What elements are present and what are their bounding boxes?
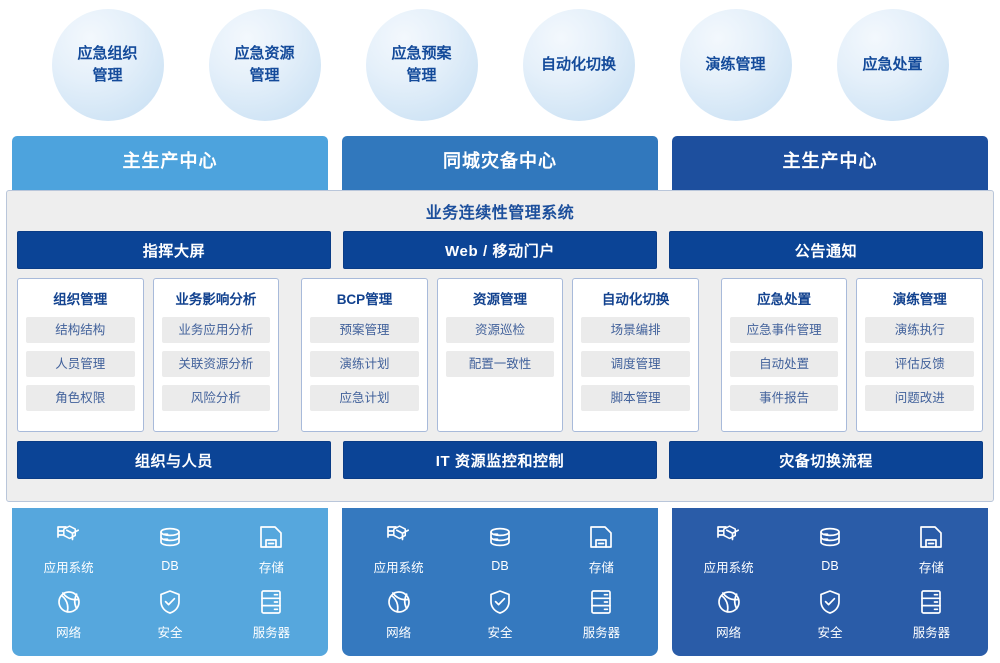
infrastructure-item[interactable]: 网络 bbox=[54, 587, 84, 641]
infrastructure-item[interactable]: 安全 bbox=[485, 587, 515, 641]
security-shield-icon bbox=[485, 587, 515, 617]
module-card-title: 组织管理 bbox=[26, 288, 135, 308]
data-center-bar[interactable]: 同城灾备中心 bbox=[342, 136, 658, 192]
infrastructure-item[interactable]: 服务器 bbox=[583, 587, 621, 641]
infrastructure-item-label: 安全 bbox=[157, 622, 182, 641]
infrastructure-item[interactable]: DB bbox=[155, 524, 185, 573]
bottom-section-bar-row: 组织与人员IT 资源监控和控制灾备切换流程 bbox=[17, 441, 983, 479]
infrastructure-item-label: 存储 bbox=[589, 557, 614, 576]
infrastructure-item-label: 安全 bbox=[487, 622, 512, 641]
module-card[interactable]: 组织管理结构结构人员管理角色权限 bbox=[17, 278, 144, 432]
module-card-item[interactable]: 演练执行 bbox=[865, 317, 974, 343]
module-card-item[interactable]: 自动处置 bbox=[730, 351, 839, 377]
infrastructure-item-label: 服务器 bbox=[913, 622, 951, 641]
module-card-item[interactable]: 人员管理 bbox=[26, 351, 135, 377]
capability-circle-label: 演练管理 bbox=[699, 54, 771, 76]
infrastructure-item-label: 网络 bbox=[56, 622, 81, 641]
capability-circle-label: 应急处置 bbox=[856, 54, 928, 76]
infrastructure-icon-panel: 应用系统 DB 存储 网络 安全 服务器 bbox=[12, 508, 328, 656]
server-icon bbox=[256, 587, 286, 617]
module-card-item[interactable]: 配置一致性 bbox=[446, 351, 555, 377]
server-icon bbox=[586, 587, 616, 617]
section-bar[interactable]: Web / 移动门户 bbox=[343, 231, 657, 269]
module-card-item[interactable]: 关联资源分析 bbox=[162, 351, 271, 377]
app-system-icon bbox=[384, 522, 414, 552]
capability-circle[interactable]: 应急处置 bbox=[837, 9, 949, 121]
module-card-title: 应急处置 bbox=[730, 288, 839, 308]
infrastructure-item-label: 安全 bbox=[817, 622, 842, 641]
module-card[interactable]: 业务影响分析业务应用分析关联资源分析风险分析 bbox=[153, 278, 280, 432]
section-bar[interactable]: 指挥大屏 bbox=[17, 231, 331, 269]
infrastructure-item-label: 存储 bbox=[919, 557, 944, 576]
module-card[interactable]: BCP管理预案管理演练计划应急计划 bbox=[301, 278, 428, 432]
section-bar[interactable]: IT 资源监控和控制 bbox=[343, 441, 657, 479]
infrastructure-item-label: 应用系统 bbox=[374, 557, 424, 576]
infrastructure-item[interactable]: 安全 bbox=[155, 587, 185, 641]
server-icon bbox=[916, 587, 946, 617]
capability-circle[interactable]: 应急预案管理 bbox=[366, 9, 478, 121]
module-card[interactable]: 演练管理演练执行评估反馈问题改进 bbox=[856, 278, 983, 432]
module-card-item[interactable]: 演练计划 bbox=[310, 351, 419, 377]
infrastructure-item[interactable]: 存储 bbox=[586, 522, 616, 576]
infrastructure-item[interactable]: DB bbox=[485, 524, 515, 573]
infrastructure-item-label: DB bbox=[821, 559, 838, 573]
capability-circle-label: 应急预案管理 bbox=[385, 43, 457, 87]
data-center-bar-row: 主生产中心同城灾备中心主生产中心 bbox=[0, 136, 1000, 192]
infrastructure-item-label: 存储 bbox=[259, 557, 284, 576]
section-bar[interactable]: 公告通知 bbox=[669, 231, 983, 269]
module-card-item[interactable]: 场景编排 bbox=[581, 317, 690, 343]
page-title: 业务连续性管理系统 bbox=[17, 199, 983, 229]
infrastructure-item[interactable]: 网络 bbox=[714, 587, 744, 641]
bcm-system-panel: 业务连续性管理系统 指挥大屏Web / 移动门户公告通知 组织管理结构结构人员管… bbox=[6, 190, 994, 502]
database-icon bbox=[815, 524, 845, 554]
network-icon bbox=[384, 587, 414, 617]
module-card-item[interactable]: 应急事件管理 bbox=[730, 317, 839, 343]
module-card-item[interactable]: 问题改进 bbox=[865, 385, 974, 411]
architecture-diagram: 应急组织管理应急资源管理应急预案管理自动化切换演练管理应急处置 主生产中心同城灾… bbox=[0, 0, 1000, 663]
capability-circle[interactable]: 演练管理 bbox=[680, 9, 792, 121]
column-group-divider bbox=[708, 278, 712, 432]
capability-circle-label: 应急资源管理 bbox=[228, 43, 300, 87]
infrastructure-item[interactable]: 安全 bbox=[815, 587, 845, 641]
top-section-bar-row: 指挥大屏Web / 移动门户公告通知 bbox=[17, 231, 983, 269]
data-center-bar[interactable]: 主生产中心 bbox=[672, 136, 988, 192]
module-card-item[interactable]: 事件报告 bbox=[730, 385, 839, 411]
infrastructure-item-label: DB bbox=[161, 559, 178, 573]
infrastructure-item-label: 服务器 bbox=[253, 622, 291, 641]
infrastructure-item-label: 网络 bbox=[386, 622, 411, 641]
section-bar[interactable]: 组织与人员 bbox=[17, 441, 331, 479]
app-system-icon bbox=[714, 522, 744, 552]
capability-circle-label: 自动化切换 bbox=[535, 54, 622, 76]
database-icon bbox=[155, 524, 185, 554]
capability-circle-row: 应急组织管理应急资源管理应急预案管理自动化切换演练管理应急处置 bbox=[0, 0, 1000, 130]
infrastructure-item-label: DB bbox=[491, 559, 508, 573]
capability-circle[interactable]: 应急资源管理 bbox=[209, 9, 321, 121]
module-card-item[interactable]: 业务应用分析 bbox=[162, 317, 271, 343]
infrastructure-icon-panel: 应用系统 DB 存储 网络 安全 服务器 bbox=[342, 508, 658, 656]
column-group-divider bbox=[288, 278, 292, 432]
infrastructure-item[interactable]: 存储 bbox=[916, 522, 946, 576]
infrastructure-item-label: 应用系统 bbox=[44, 557, 94, 576]
infrastructure-item[interactable]: DB bbox=[815, 524, 845, 573]
module-card[interactable]: 自动化切换场景编排调度管理脚本管理 bbox=[572, 278, 699, 432]
module-card-title: 业务影响分析 bbox=[162, 288, 271, 308]
security-shield-icon bbox=[155, 587, 185, 617]
infrastructure-item-label: 应用系统 bbox=[704, 557, 754, 576]
network-icon bbox=[714, 587, 744, 617]
storage-icon bbox=[586, 522, 616, 552]
capability-circle-label: 应急组织管理 bbox=[71, 43, 143, 87]
app-system-icon bbox=[54, 522, 84, 552]
storage-icon bbox=[256, 522, 286, 552]
module-card-title: 资源管理 bbox=[446, 288, 555, 308]
module-card-item[interactable]: 资源巡检 bbox=[446, 317, 555, 343]
section-bar[interactable]: 灾备切换流程 bbox=[669, 441, 983, 479]
data-center-bar[interactable]: 主生产中心 bbox=[12, 136, 328, 192]
infrastructure-item[interactable]: 存储 bbox=[256, 522, 286, 576]
module-card-title: 自动化切换 bbox=[581, 288, 690, 308]
module-card-item[interactable]: 预案管理 bbox=[310, 317, 419, 343]
capability-circle[interactable]: 自动化切换 bbox=[523, 9, 635, 121]
module-card-item[interactable]: 结构结构 bbox=[26, 317, 135, 343]
module-card-title: 演练管理 bbox=[865, 288, 974, 308]
module-card-row: 组织管理结构结构人员管理角色权限业务影响分析业务应用分析关联资源分析风险分析BC… bbox=[17, 278, 983, 432]
module-card-item[interactable]: 风险分析 bbox=[162, 385, 271, 411]
infrastructure-icon-panel-row: 应用系统 DB 存储 网络 安全 服务器 bbox=[12, 508, 988, 656]
module-card-item[interactable]: 应急计划 bbox=[310, 385, 419, 411]
storage-icon bbox=[916, 522, 946, 552]
infrastructure-item[interactable]: 服务器 bbox=[913, 587, 951, 641]
security-shield-icon bbox=[815, 587, 845, 617]
infrastructure-item[interactable]: 服务器 bbox=[253, 587, 291, 641]
capability-circle[interactable]: 应急组织管理 bbox=[52, 9, 164, 121]
infrastructure-item-label: 网络 bbox=[716, 622, 741, 641]
module-card-item[interactable]: 角色权限 bbox=[26, 385, 135, 411]
infrastructure-item[interactable]: 应用系统 bbox=[374, 522, 424, 576]
module-card-item[interactable]: 脚本管理 bbox=[581, 385, 690, 411]
infrastructure-icon-panel: 应用系统 DB 存储 网络 安全 服务器 bbox=[672, 508, 988, 656]
infrastructure-item[interactable]: 应用系统 bbox=[44, 522, 94, 576]
database-icon bbox=[485, 524, 515, 554]
module-card-title: BCP管理 bbox=[310, 288, 419, 308]
infrastructure-item[interactable]: 应用系统 bbox=[704, 522, 754, 576]
infrastructure-item[interactable]: 网络 bbox=[384, 587, 414, 641]
network-icon bbox=[54, 587, 84, 617]
module-card[interactable]: 应急处置应急事件管理自动处置事件报告 bbox=[721, 278, 848, 432]
module-card-item[interactable]: 评估反馈 bbox=[865, 351, 974, 377]
infrastructure-item-label: 服务器 bbox=[583, 622, 621, 641]
module-card[interactable]: 资源管理资源巡检配置一致性 bbox=[437, 278, 564, 432]
module-card-item[interactable]: 调度管理 bbox=[581, 351, 690, 377]
